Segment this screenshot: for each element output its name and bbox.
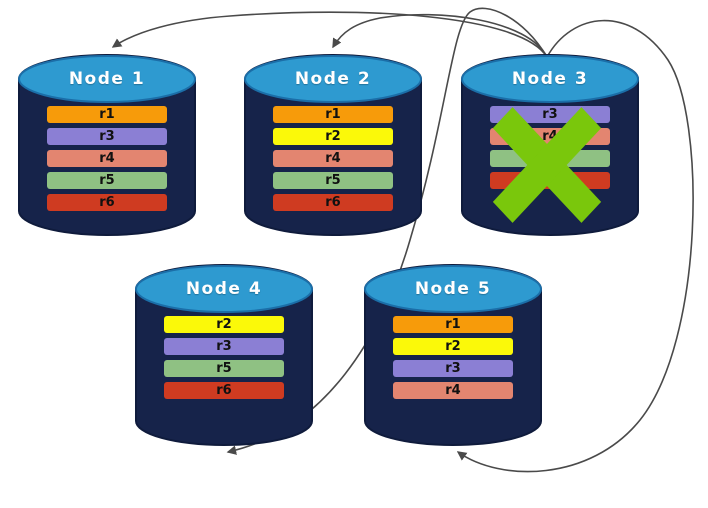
node-2-replica-r6[interactable]: r6	[273, 194, 393, 211]
node-5-replica-r4[interactable]: r4	[393, 382, 513, 399]
replica-label: r2	[445, 340, 460, 353]
node-2-replica-list: r1r2r4r5r6	[244, 106, 422, 211]
replica-label: r2	[325, 130, 340, 143]
node-layer: Node 1r1r3r4r5r6Node 2r1r2r4r5r6Node 3r3…	[0, 0, 708, 508]
replica-label: r3	[99, 130, 114, 143]
replica-label: r5	[325, 174, 340, 187]
node-3-replica-r3[interactable]: r3	[490, 106, 610, 123]
replica-label: r3	[542, 108, 557, 121]
node-4[interactable]: Node 4r2r3r5r6	[135, 265, 313, 445]
node-2-replica-r2[interactable]: r2	[273, 128, 393, 145]
replica-label: r1	[99, 108, 114, 121]
replica-label: r5	[216, 362, 231, 375]
replica-label: r3	[445, 362, 460, 375]
node-3-replica-list: r3r4r5r6	[461, 106, 639, 189]
node-5-replica-r1[interactable]: r1	[393, 316, 513, 333]
replica-label: r5	[542, 152, 557, 165]
replica-label: r5	[99, 174, 114, 187]
node-1-replica-r6[interactable]: r6	[47, 194, 167, 211]
node-3[interactable]: Node 3r3r4r5r6	[461, 55, 639, 235]
replica-label: r1	[325, 108, 340, 121]
replica-label: r6	[325, 196, 340, 209]
replica-label: r4	[99, 152, 114, 165]
node-5-replica-r3[interactable]: r3	[393, 360, 513, 377]
replica-label: r3	[216, 340, 231, 353]
node-2-replica-r5[interactable]: r5	[273, 172, 393, 189]
node-4-replica-r5[interactable]: r5	[164, 360, 284, 377]
node-3-replica-r6[interactable]: r6	[490, 172, 610, 189]
node-1-replica-r5[interactable]: r5	[47, 172, 167, 189]
node-1-replica-list: r1r3r4r5r6	[18, 106, 196, 211]
node-4-top-cap	[136, 266, 312, 312]
replica-label: r1	[445, 318, 460, 331]
node-4-replica-list: r2r3r5r6	[135, 316, 313, 399]
replica-label: r6	[542, 174, 557, 187]
node-3-top-cap	[462, 56, 638, 102]
diagram-canvas: Node 1r1r3r4r5r6Node 2r1r2r4r5r6Node 3r3…	[0, 0, 708, 508]
node-3-replica-r5[interactable]: r5	[490, 150, 610, 167]
node-5[interactable]: Node 5r1r2r3r4	[364, 265, 542, 445]
node-1-replica-r4[interactable]: r4	[47, 150, 167, 167]
node-1-replica-r1[interactable]: r1	[47, 106, 167, 123]
node-3-replica-r4[interactable]: r4	[490, 128, 610, 145]
replica-label: r6	[99, 196, 114, 209]
node-2[interactable]: Node 2r1r2r4r5r6	[244, 55, 422, 235]
node-1-top-cap	[19, 56, 195, 102]
replica-label: r4	[445, 384, 460, 397]
node-5-top-cap	[365, 266, 541, 312]
node-1-replica-r3[interactable]: r3	[47, 128, 167, 145]
replica-label: r4	[542, 130, 557, 143]
node-2-replica-r1[interactable]: r1	[273, 106, 393, 123]
replica-label: r6	[216, 384, 231, 397]
node-1[interactable]: Node 1r1r3r4r5r6	[18, 55, 196, 235]
node-4-replica-r3[interactable]: r3	[164, 338, 284, 355]
replica-label: r4	[325, 152, 340, 165]
node-2-replica-r4[interactable]: r4	[273, 150, 393, 167]
replica-label: r2	[216, 318, 231, 331]
node-4-replica-r2[interactable]: r2	[164, 316, 284, 333]
node-5-replica-list: r1r2r3r4	[364, 316, 542, 399]
node-2-top-cap	[245, 56, 421, 102]
node-4-replica-r6[interactable]: r6	[164, 382, 284, 399]
node-5-replica-r2[interactable]: r2	[393, 338, 513, 355]
